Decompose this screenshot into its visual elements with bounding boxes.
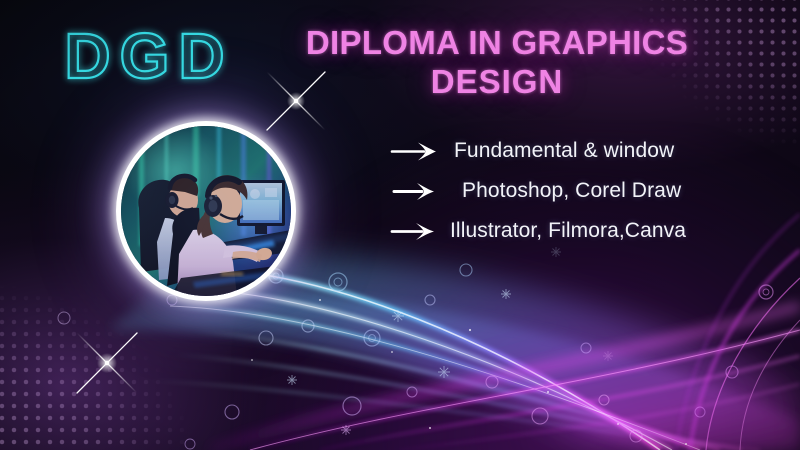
page-title: DIPLOMA IN GRAPHICS DESIGN (282, 24, 712, 102)
list-item: Illustrator, Filmora,Canva (390, 211, 775, 251)
arrow-right-icon (392, 180, 440, 202)
title-line-1: DIPLOMA IN GRAPHICS (282, 24, 712, 63)
list-item: Photoshop, Corel Draw (390, 171, 775, 211)
dgd-logo-text: DGD (64, 20, 233, 92)
feature-label: Illustrator, Filmora,Canva (450, 219, 686, 243)
list-item: Fundamental & window (390, 131, 775, 171)
feature-label: Photoshop, Corel Draw (462, 179, 681, 203)
photo-artwork (121, 126, 291, 296)
arrow-right-icon (390, 220, 440, 242)
feature-list: Fundamental & window Photoshop, Corel Dr… (390, 131, 775, 251)
photo-clip (121, 126, 291, 296)
title-line-2: DESIGN (282, 63, 712, 102)
dgd-logo: DGD (44, 18, 254, 98)
feature-label: Fundamental & window (454, 139, 674, 163)
arrow-right-icon (390, 140, 442, 162)
course-promo-banner: DGD DIPLOMA IN GRAPHICS DESIGN Fundament… (0, 0, 800, 450)
students-at-computers-photo (116, 121, 296, 301)
